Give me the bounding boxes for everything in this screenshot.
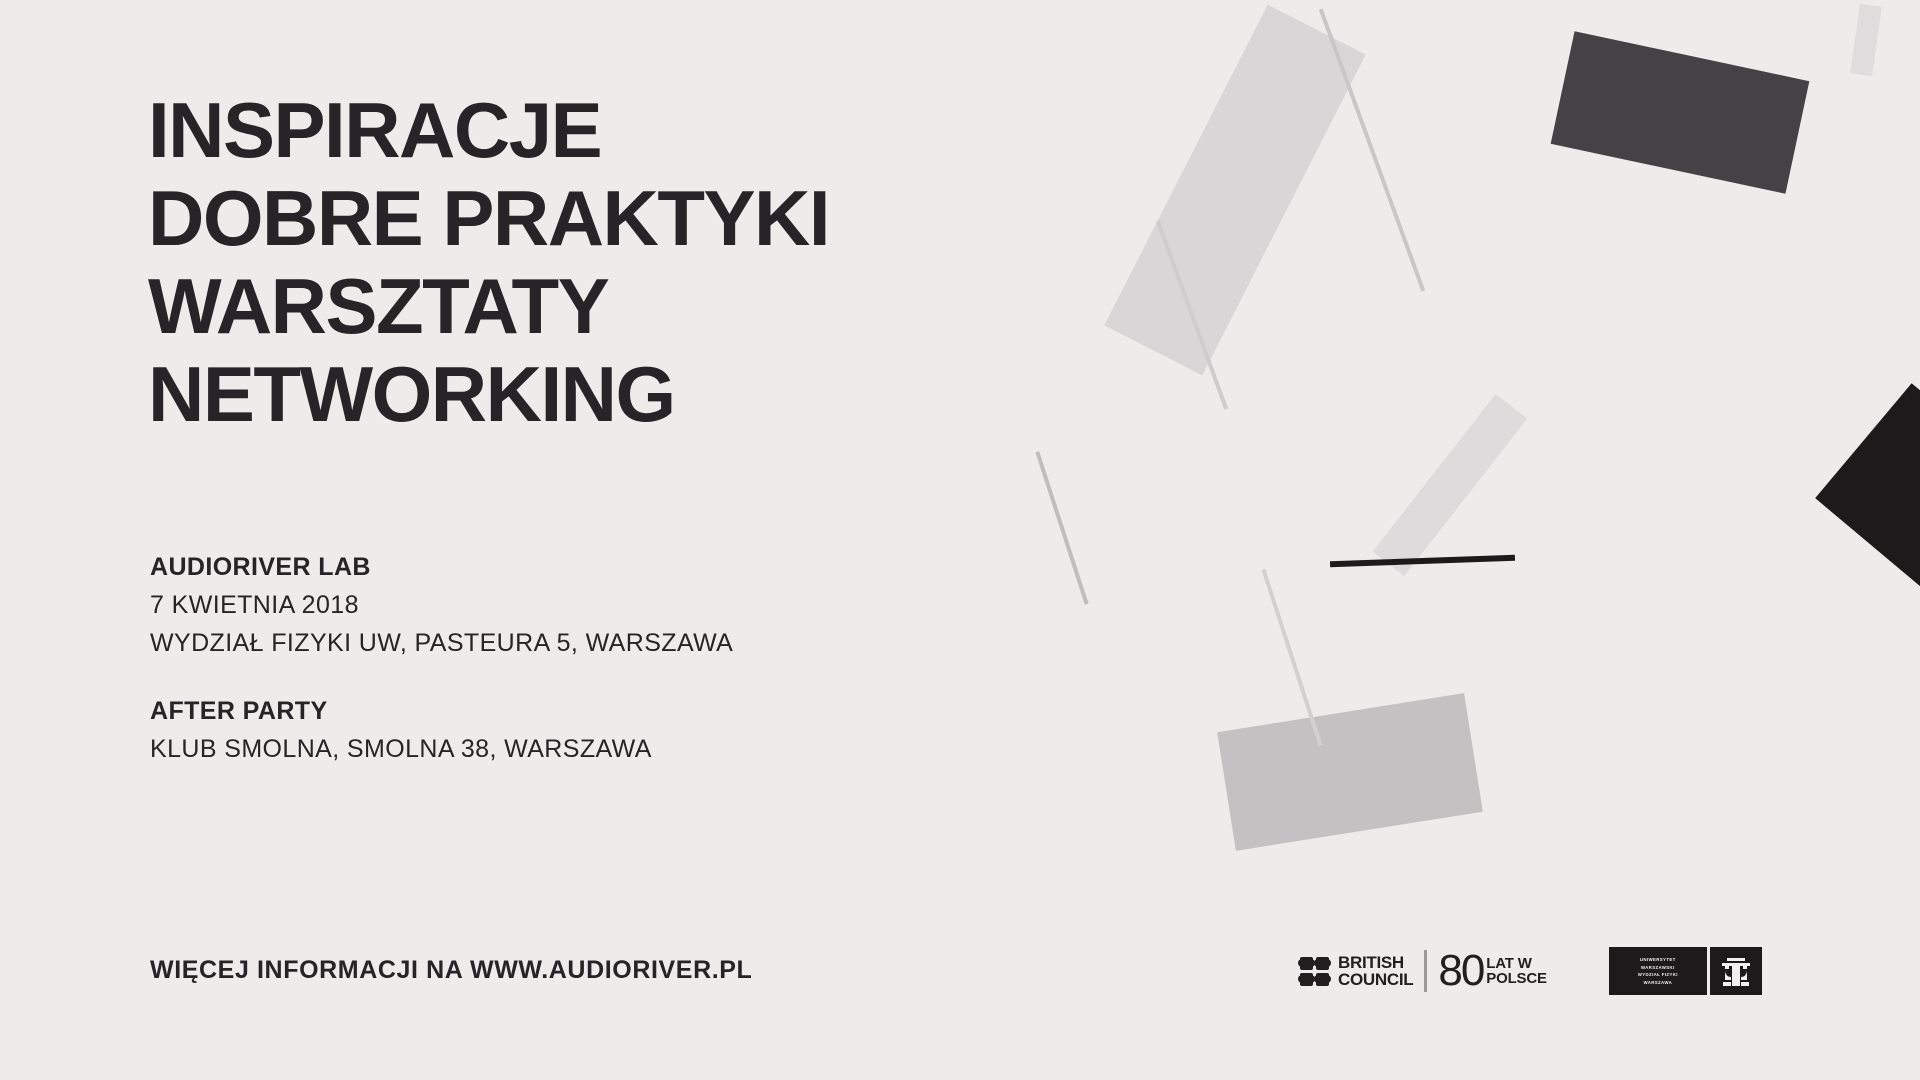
university-line-4: WARSZAWA (1643, 979, 1672, 987)
column-icon (1719, 954, 1753, 988)
thin-diagonal-line-d-shape (1156, 220, 1228, 409)
university-line-2: WARSZAWSKI (1641, 964, 1675, 972)
detail-afterparty-venue-line: KLUB SMOLNA, SMOLNA 38, WARSZAWA (150, 730, 733, 768)
thin-diagonal-line-b-shape (1035, 451, 1088, 604)
poster-canvas: INSPIRACJE DOBRE PRAKTYKI WARSZTATY NETW… (0, 0, 1920, 1080)
detail-group-after-party: AFTER PARTY KLUB SMOLNA, SMOLNA 38, WARS… (150, 692, 733, 768)
headline-line-2: DOBRE PRAKTYKI (148, 174, 829, 262)
british-council-line-2: COUNCIL (1338, 971, 1413, 988)
british-council-wordmark: BRITISH COUNCIL (1338, 954, 1413, 988)
white-chip-top-right-shape (1850, 4, 1882, 76)
british-council-logo[interactable]: BRITISH COUNCIL 80 LAT W POLSCE (1300, 945, 1547, 997)
thin-diagonal-line-a-shape (1319, 8, 1425, 291)
headline-line-4: NETWORKING (148, 350, 829, 438)
thin-diagonal-line-c-shape (1262, 569, 1323, 746)
headline-line-1: INSPIRACJE (148, 86, 829, 174)
anniversary-number: 80 (1438, 951, 1483, 991)
detail-heading-audioriver-lab: AUDIORIVER LAB (150, 548, 733, 586)
more-info-link[interactable]: WIĘCEJ INFORMACJI NA WWW.AUDIORIVER.PL (150, 956, 752, 985)
anniversary-line-2: POLSCE (1486, 971, 1546, 986)
mid-gray-slab-bottom-shape (1217, 693, 1483, 851)
black-slab-far-right-shape (1815, 383, 1920, 626)
university-of-warsaw-logo[interactable]: UNIWERSYTET WARSZAWSKI WYDZIAŁ FIZYKI WA… (1609, 947, 1762, 995)
british-council-line-1: BRITISH (1338, 954, 1413, 971)
poster-headline: INSPIRACJE DOBRE PRAKTYKI WARSZTATY NETW… (148, 86, 829, 438)
university-line-1: UNIWERSYTET (1640, 956, 1676, 964)
anniversary-wordmark: LAT W POLSCE (1486, 956, 1546, 986)
dark-gray-slab-top-shape (1551, 31, 1810, 193)
logo-divider (1424, 950, 1427, 992)
sponsor-logo-row: BRITISH COUNCIL 80 LAT W POLSCE UNIWERSY… (1300, 938, 1762, 1004)
detail-venue-line: WYDZIAŁ FIZYKI UW, PASTEURA 5, WARSZAWA (150, 624, 733, 662)
light-gray-slab-top-shape (1104, 5, 1365, 376)
light-gray-bar-right-shape (1373, 394, 1528, 576)
event-details: AUDIORIVER LAB 7 KWIETNIA 2018 WYDZIAŁ F… (150, 548, 733, 768)
headline-line-3: WARSZTATY (148, 262, 829, 350)
anniversary-line-1: LAT W (1486, 956, 1546, 971)
university-emblem (1710, 947, 1762, 995)
detail-date-line: 7 KWIETNIA 2018 (150, 586, 733, 624)
university-line-3: WYDZIAŁ FIZYKI (1638, 971, 1678, 979)
british-council-dots-icon (1300, 957, 1329, 986)
detail-group-audioriver-lab: AUDIORIVER LAB 7 KWIETNIA 2018 WYDZIAŁ F… (150, 548, 733, 662)
detail-heading-after-party: AFTER PARTY (150, 692, 733, 730)
university-wordmark: UNIWERSYTET WARSZAWSKI WYDZIAŁ FIZYKI WA… (1609, 947, 1707, 995)
anniversary-lockup: 80 LAT W POLSCE (1438, 951, 1546, 991)
dark-rule-mid-shape (1330, 555, 1515, 567)
